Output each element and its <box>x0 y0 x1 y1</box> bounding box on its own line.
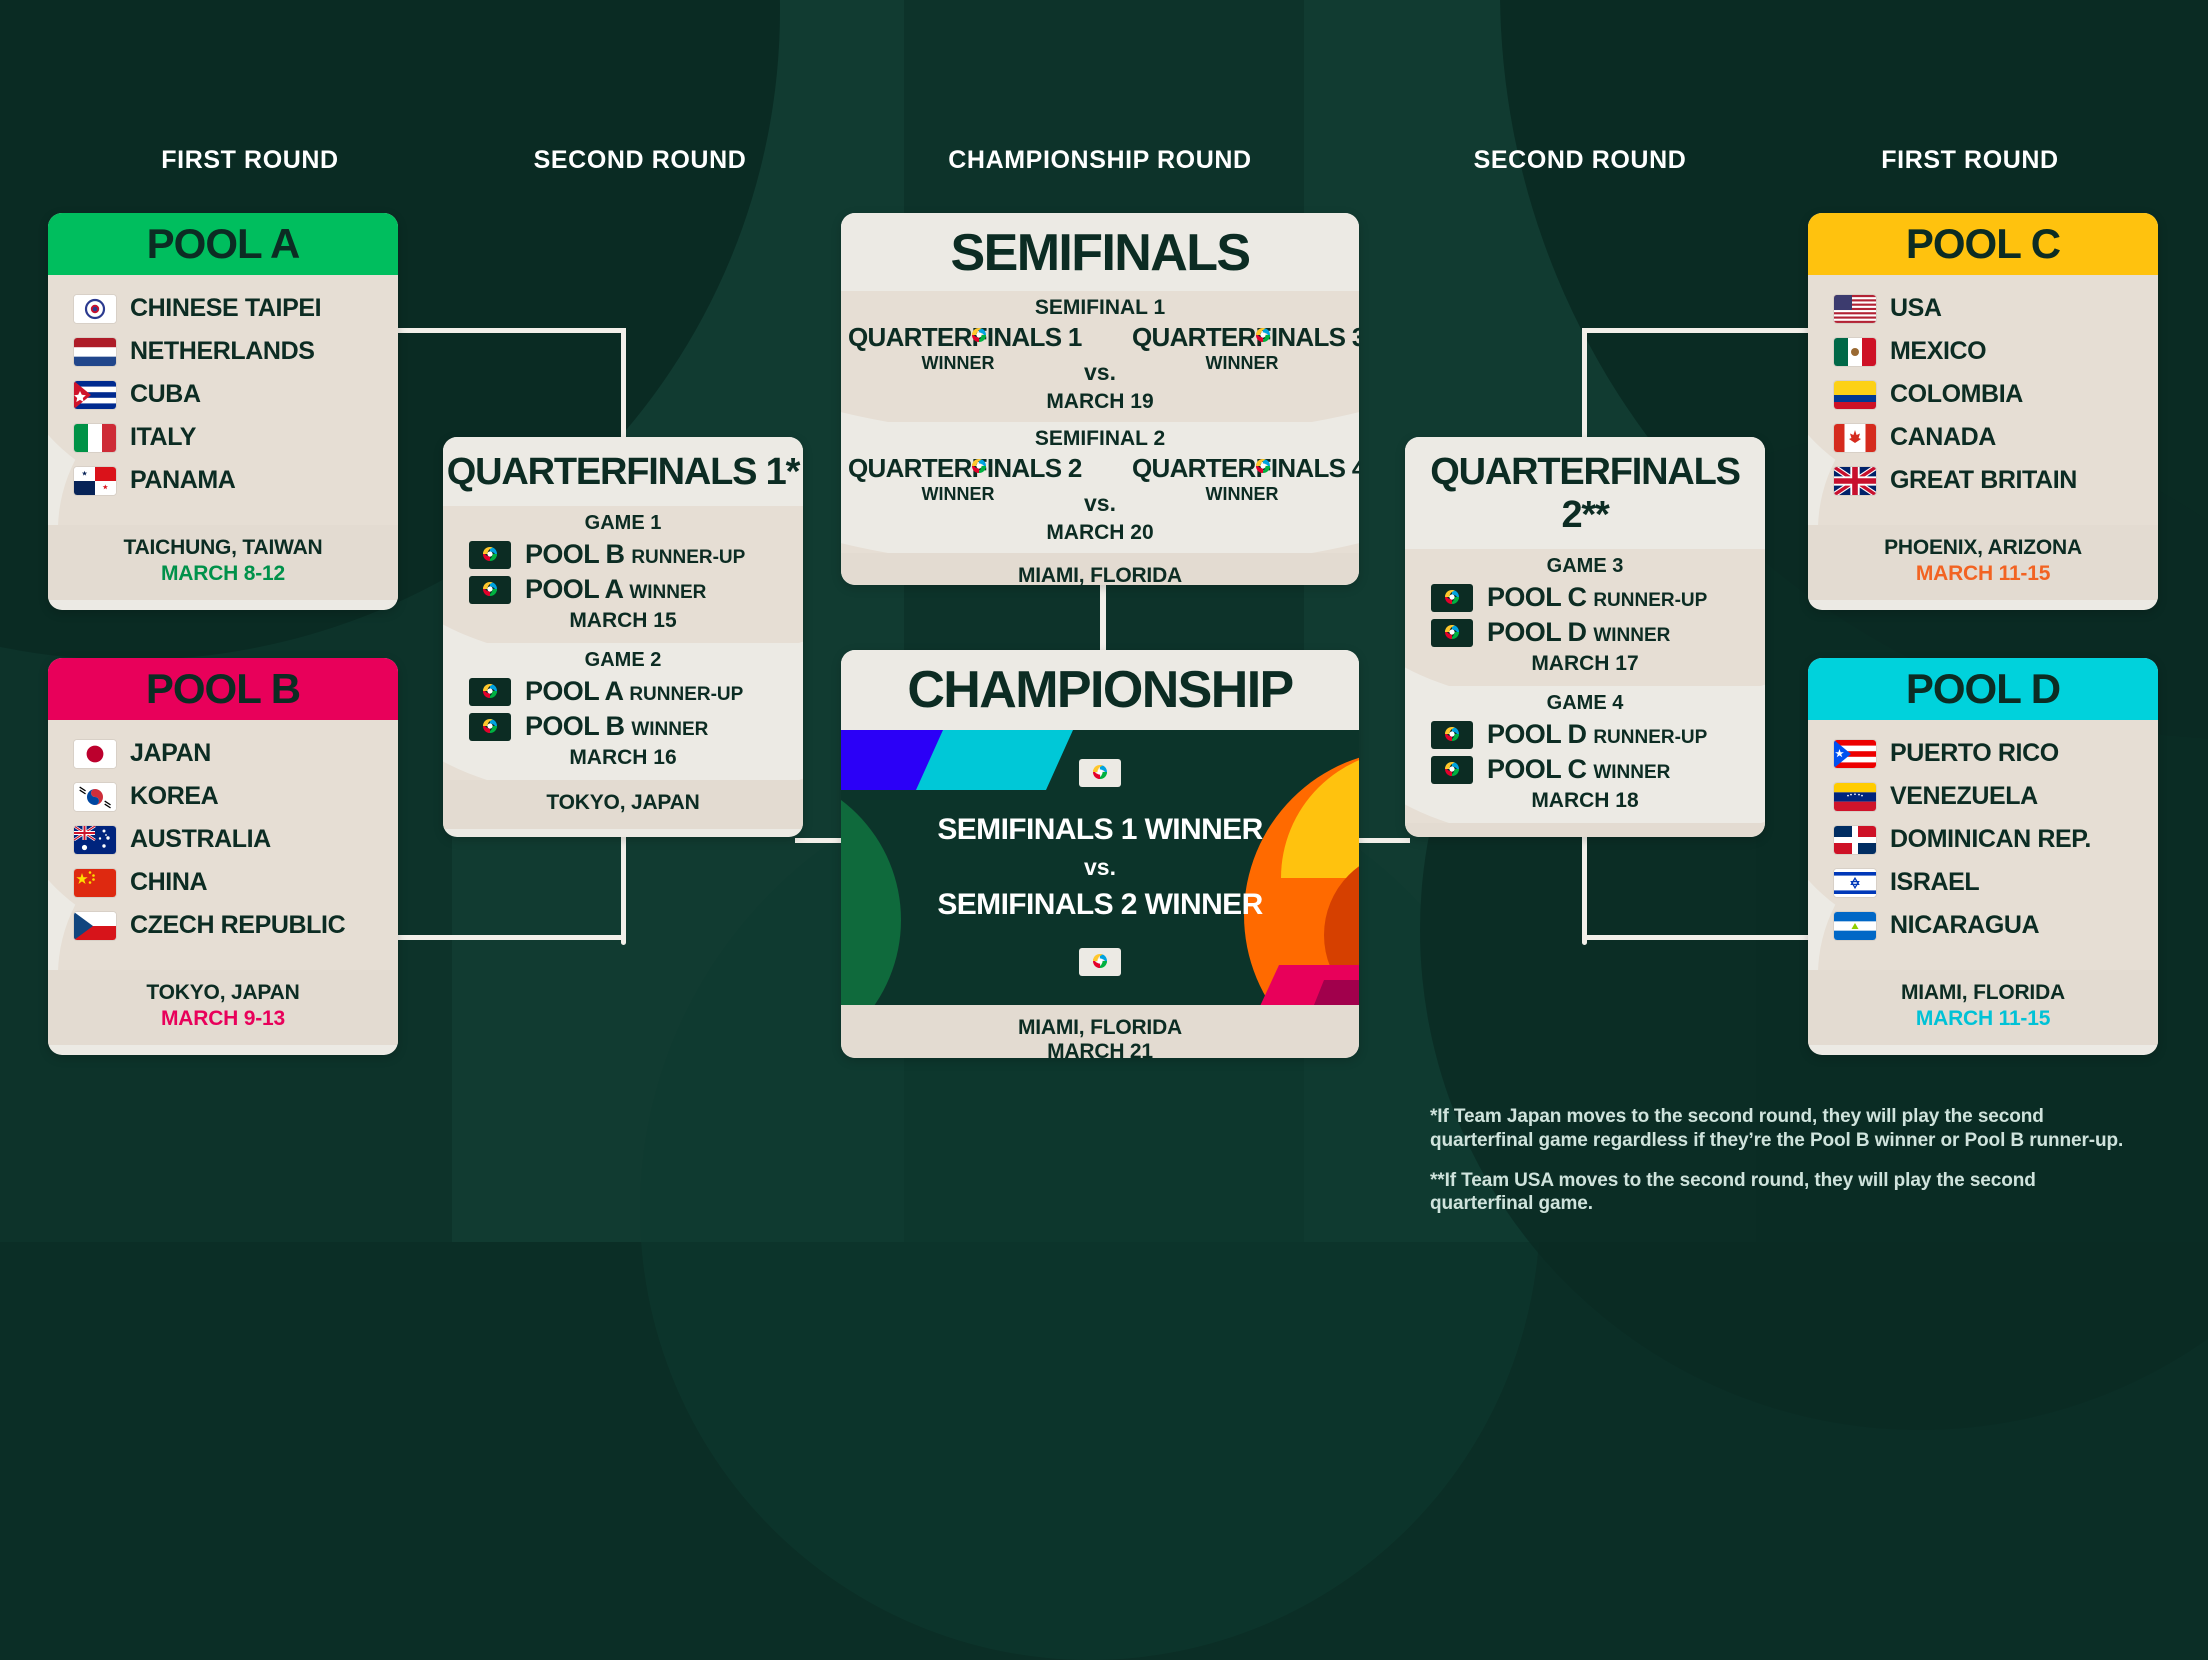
championship-city: MIAMI, FLORIDA <box>847 1016 1353 1040</box>
qf2-game-3[interactable]: GAME 3 POOL C RUNNER-UP POOL D WINNER MA… <box>1405 549 1765 686</box>
qf2-game3-slot-1[interactable]: POOL C RUNNER-UP <box>1405 582 1765 613</box>
pool-b-venue: TOKYO, JAPAN MARCH 9-13 <box>48 970 398 1045</box>
team-row[interactable]: CHINESE TAIPEI <box>48 287 398 330</box>
wbc-logo-icon <box>469 678 511 706</box>
flag-great-britain-icon <box>1834 467 1876 495</box>
qf1-game-2[interactable]: GAME 2 POOL A RUNNER-UP POOL B WINNER MA… <box>443 643 803 780</box>
semifinal-2-right-sub: WINNER <box>1132 484 1352 505</box>
team-row[interactable]: NETHERLANDS <box>48 330 398 373</box>
semifinal-1-date: MARCH 19 <box>841 390 1359 414</box>
match-date: MARCH 15 <box>443 609 803 633</box>
team-name: CANADA <box>1890 423 1996 452</box>
quarterfinals-2-title: QUARTERFINALS 2** <box>1430 451 1740 536</box>
pool-d-venue: MIAMI, FLORIDA MARCH 11-15 <box>1808 970 2158 1045</box>
quarterfinals-1-title-bar: QUARTERFINALS 1* <box>443 437 803 506</box>
pool-d-city: MIAMI, FLORIDA <box>1814 981 2152 1005</box>
semifinals-venue: MIAMI, FLORIDA <box>841 553 1359 585</box>
wbc-logo-icon <box>469 541 511 569</box>
connector-qf2-to-semis <box>1350 838 1410 843</box>
slot-text: POOL B RUNNER-UP <box>525 539 745 570</box>
slot-main: POOL A <box>525 574 622 604</box>
slot-main: POOL D <box>1487 719 1586 749</box>
flag-chinese-taipei-icon <box>74 295 116 323</box>
semifinal-1[interactable]: SEMIFINAL 1 QUARTERFINALS 1 WINNER vs. Q… <box>841 291 1359 422</box>
pool-b-header: POOL B <box>48 658 398 720</box>
team-name: GREAT BRITAIN <box>1890 466 2077 495</box>
slot-main: POOL A <box>525 676 622 706</box>
team-row[interactable]: VENEZUELA <box>1808 775 2158 818</box>
flag-dominican-republic-icon <box>1834 826 1876 854</box>
footnote-1: *If Team Japan moves to the second round… <box>1430 1105 2130 1153</box>
quarterfinals-1-title: QUARTERFINALS 1* <box>447 451 799 493</box>
wbc-logo-icon <box>469 713 511 741</box>
slot-main: POOL B <box>525 711 624 741</box>
semifinal-2-left-name: QUARTERFINALS 2 <box>848 453 1068 484</box>
semifinal-2-grid: QUARTERFINALS 2 WINNER vs. QUARTERFINALS… <box>841 453 1359 517</box>
flag-cuba-icon <box>74 381 116 409</box>
team-row[interactable]: CUBA <box>48 373 398 416</box>
semifinal-2-date: MARCH 20 <box>841 521 1359 545</box>
team-row[interactable]: USA <box>1808 287 2158 330</box>
round-header-label: CHAMPIONSHIP ROUND <box>948 146 1251 174</box>
flag-korea-icon <box>74 783 116 811</box>
team-name: KOREA <box>130 782 218 811</box>
slot-sub: RUNNER-UP <box>631 547 745 568</box>
slot-sub: WINNER <box>631 719 708 740</box>
game-label: GAME 1 <box>443 512 803 535</box>
pool-c-team-list: USA MEXICO COLOMBIA CANADA GREAT BRITAIN <box>1808 275 2158 525</box>
round-header-label: FIRST ROUND <box>1881 146 2058 174</box>
championship-vs: vs. <box>1084 854 1116 881</box>
wbc-logo-icon <box>1079 759 1121 787</box>
semifinal-1-left-sub: WINNER <box>848 353 1068 374</box>
qf1-game-1[interactable]: GAME 1 POOL B RUNNER-UP POOL A WINNER MA… <box>443 506 803 643</box>
pool-a-team-list: CHINESE TAIPEI NETHERLANDS CUBA ITALY PA… <box>48 275 398 525</box>
wbc-logo-icon <box>1431 721 1473 749</box>
slot-sub: RUNNER-UP <box>1593 727 1707 748</box>
quarterfinals-2-venue: MIAMI, FLORIDA <box>1405 823 1765 837</box>
slot-main: POOL C <box>1487 754 1586 784</box>
team-name: CHINA <box>130 868 207 897</box>
qf1-game1-slot-2[interactable]: POOL A WINNER <box>443 574 803 605</box>
pool-d-title: POOL D <box>1906 665 2060 713</box>
team-row[interactable]: NICARAGUA <box>1808 904 2158 947</box>
match-date: MARCH 18 <box>1405 789 1765 813</box>
pool-a-header: POOL A <box>48 213 398 275</box>
pool-c-title: POOL C <box>1906 220 2060 268</box>
championship-matchup: SEMIFINALS 1 WINNER vs. SEMIFINALS 2 WIN… <box>841 730 1359 1005</box>
pool-b-team-list: JAPAN KOREA AUSTRALIA CHINA CZECH REPUBL… <box>48 720 398 970</box>
game-label: GAME 2 <box>443 649 803 672</box>
team-name: AUSTRALIA <box>130 825 271 854</box>
wbc-logo-icon <box>1431 619 1473 647</box>
team-name: CHINESE TAIPEI <box>130 294 321 323</box>
wbc-logo-icon <box>1431 756 1473 784</box>
semifinals-card[interactable]: SEMIFINALS SEMIFINAL 1 QUARTERFINALS 1 W… <box>841 213 1359 585</box>
team-row[interactable]: AUSTRALIA <box>48 818 398 861</box>
quarterfinals-2-city: MIAMI, FLORIDA <box>1411 834 1759 837</box>
round-header-first-left: FIRST ROUND <box>60 146 440 175</box>
flag-puerto-rico-icon <box>1834 740 1876 768</box>
wbc-logo-icon <box>1079 948 1121 976</box>
team-name: NETHERLANDS <box>130 337 315 366</box>
pool-a-date: MARCH 8-12 <box>54 562 392 586</box>
championship-title-bar: CHAMPIONSHIP <box>841 650 1359 730</box>
slot-sub: WINNER <box>1593 762 1670 783</box>
team-row[interactable]: ITALY <box>48 416 398 459</box>
pool-c-city: PHOENIX, ARIZONA <box>1814 536 2152 560</box>
flag-colombia-icon <box>1834 381 1876 409</box>
semifinal-1-right[interactable]: QUARTERFINALS 3 WINNER <box>1132 322 1352 374</box>
semifinal-label: SEMIFINAL 1 <box>841 296 1359 320</box>
team-name: CUBA <box>130 380 201 409</box>
connector-semis-to-championship <box>1100 585 1106 655</box>
semifinal-1-grid: QUARTERFINALS 1 WINNER vs. QUARTERFINALS… <box>841 322 1359 386</box>
team-name: USA <box>1890 294 1942 323</box>
championship-team-2: SEMIFINALS 2 WINNER <box>937 888 1262 922</box>
pool-d-date: MARCH 11-15 <box>1814 1007 2152 1031</box>
qf2-game-4[interactable]: GAME 4 POOL D RUNNER-UP POOL C WINNER MA… <box>1405 686 1765 823</box>
flag-japan-icon <box>74 740 116 768</box>
wbc-logo-icon <box>1431 584 1473 612</box>
round-header-second-right: SECOND ROUND <box>1370 146 1790 175</box>
team-name: PUERTO RICO <box>1890 739 2059 768</box>
semifinal-1-right-sub: WINNER <box>1132 353 1352 374</box>
pool-b-title: POOL B <box>146 665 300 713</box>
team-row[interactable]: GREAT BRITAIN <box>1808 459 2158 502</box>
slot-sub: RUNNER-UP <box>629 684 743 705</box>
slot-text: POOL C WINNER <box>1487 754 1670 785</box>
championship-decor-left-icon <box>841 730 1091 1005</box>
slot-main: POOL C <box>1487 582 1586 612</box>
team-name: PANAMA <box>130 466 235 495</box>
pool-c-date: MARCH 11-15 <box>1814 562 2152 586</box>
championship-decor-right-icon <box>1109 730 1359 1005</box>
flag-netherlands-icon <box>74 338 116 366</box>
flag-australia-icon <box>74 826 116 854</box>
semifinals-title-bar: SEMIFINALS <box>841 213 1359 291</box>
pool-c-venue: PHOENIX, ARIZONA MARCH 11-15 <box>1808 525 2158 600</box>
flag-canada-icon <box>1834 424 1876 452</box>
round-header-first-right: FIRST ROUND <box>1780 146 2160 175</box>
team-row[interactable]: PANAMA <box>48 459 398 502</box>
slot-text: POOL D RUNNER-UP <box>1487 719 1707 750</box>
slot-sub: RUNNER-UP <box>1593 590 1707 611</box>
round-header-championship: CHAMPIONSHIP ROUND <box>855 146 1345 175</box>
championship-date: MARCH 21 <box>847 1040 1353 1058</box>
slot-sub: WINNER <box>1593 625 1670 646</box>
team-row[interactable]: MEXICO <box>1808 330 2158 373</box>
semifinal-2-right[interactable]: QUARTERFINALS 4 WINNER <box>1132 453 1352 505</box>
slot-text: POOL B WINNER <box>525 711 708 742</box>
quarterfinals-2-card[interactable]: QUARTERFINALS 2** GAME 3 POOL C RUNNER-U… <box>1405 437 1765 837</box>
semifinal-label: SEMIFINAL 2 <box>841 427 1359 451</box>
semifinal-2-left[interactable]: QUARTERFINALS 2 WINNER <box>848 453 1068 505</box>
qf2-game3-slot-2[interactable]: POOL D WINNER <box>1405 617 1765 648</box>
pool-a-card[interactable]: POOL A CHINESE TAIPEI NETHERLANDS CUBA I… <box>48 213 398 610</box>
quarterfinals-1-venue: TOKYO, JAPAN <box>443 780 803 829</box>
round-header-label: SECOND ROUND <box>534 146 747 174</box>
team-name: MEXICO <box>1890 337 1986 366</box>
pool-a-title: POOL A <box>147 220 300 268</box>
team-row[interactable]: PUERTO RICO <box>1808 732 2158 775</box>
semifinal-1-right-name: QUARTERFINALS 3 <box>1132 322 1352 353</box>
quarterfinals-1-card[interactable]: QUARTERFINALS 1* GAME 1 POOL B RUNNER-UP… <box>443 437 803 837</box>
game-label: GAME 4 <box>1405 692 1765 715</box>
flag-panama-icon <box>74 467 116 495</box>
team-row[interactable]: ISRAEL <box>1808 861 2158 904</box>
pool-c-card[interactable]: POOL C USA MEXICO COLOMBIA CANADA <box>1808 213 2158 610</box>
team-name: NICARAGUA <box>1890 911 2039 940</box>
pool-d-team-list: PUERTO RICO VENEZUELA DOMINICAN REP. ISR… <box>1808 720 2158 970</box>
team-row[interactable]: KOREA <box>48 775 398 818</box>
semifinal-2-right-name: QUARTERFINALS 4 <box>1132 453 1352 484</box>
championship-venue: MIAMI, FLORIDA MARCH 21 <box>841 1005 1359 1058</box>
championship-card[interactable]: CHAMPIONSHIP SEMIFINALS 1 WINNER vs. SEM… <box>841 650 1359 1058</box>
slot-text: POOL D WINNER <box>1487 617 1670 648</box>
pool-a-city: TAICHUNG, TAIWAN <box>54 536 392 560</box>
flag-china-icon <box>74 869 116 897</box>
team-name: VENEZUELA <box>1890 782 2038 811</box>
flag-venezuela-icon <box>1834 783 1876 811</box>
pool-b-date: MARCH 9-13 <box>54 1007 392 1031</box>
qf2-game4-slot-1[interactable]: POOL D RUNNER-UP <box>1405 719 1765 750</box>
semifinal-1-left-name: QUARTERFINALS 1 <box>848 322 1068 353</box>
pool-b-card[interactable]: POOL B JAPAN KOREA AUSTRALIA CHINA <box>48 658 398 1055</box>
semifinal-2-vs: vs. <box>1084 453 1116 517</box>
slot-main: POOL D <box>1487 617 1586 647</box>
pool-a-venue: TAICHUNG, TAIWAN MARCH 8-12 <box>48 525 398 600</box>
round-header-label: FIRST ROUND <box>161 146 338 174</box>
semifinals-title: SEMIFINALS <box>951 224 1250 282</box>
qf1-game2-slot-2[interactable]: POOL B WINNER <box>443 711 803 742</box>
qf1-game2-slot-1[interactable]: POOL A RUNNER-UP <box>443 676 803 707</box>
slot-text: POOL C RUNNER-UP <box>1487 582 1707 613</box>
flag-usa-icon <box>1834 295 1876 323</box>
flag-italy-icon <box>74 424 116 452</box>
pool-d-header: POOL D <box>1808 658 2158 720</box>
round-header-second-left: SECOND ROUND <box>430 146 850 175</box>
slot-text: POOL A RUNNER-UP <box>525 676 743 707</box>
slot-text: POOL A WINNER <box>525 574 706 605</box>
team-name: JAPAN <box>130 739 211 768</box>
semifinal-1-vs: vs. <box>1084 322 1116 386</box>
wbc-logo-icon <box>469 576 511 604</box>
pool-b-city: TOKYO, JAPAN <box>54 981 392 1005</box>
team-row[interactable]: COLOMBIA <box>1808 373 2158 416</box>
semifinal-2[interactable]: SEMIFINAL 2 QUARTERFINALS 2 WINNER vs. Q… <box>841 422 1359 553</box>
qf2-game4-slot-2[interactable]: POOL C WINNER <box>1405 754 1765 785</box>
match-date: MARCH 17 <box>1405 652 1765 676</box>
team-name: DOMINICAN REP. <box>1890 825 2091 854</box>
round-header-label: SECOND ROUND <box>1474 146 1687 174</box>
flag-mexico-icon <box>1834 338 1876 366</box>
footnotes: *If Team Japan moves to the second round… <box>1430 1105 2130 1232</box>
team-name: ISRAEL <box>1890 868 1979 897</box>
team-row[interactable]: CZECH REPUBLIC <box>48 904 398 947</box>
championship-team-1: SEMIFINALS 1 WINNER <box>937 813 1262 847</box>
footnote-2: **If Team USA moves to the second round,… <box>1430 1169 2130 1217</box>
slot-sub: WINNER <box>629 582 706 603</box>
team-row[interactable]: CANADA <box>1808 416 2158 459</box>
team-name: ITALY <box>130 423 196 452</box>
match-date: MARCH 16 <box>443 746 803 770</box>
slot-main: POOL B <box>525 539 624 569</box>
qf1-game1-slot-1[interactable]: POOL B RUNNER-UP <box>443 539 803 570</box>
team-row[interactable]: CHINA <box>48 861 398 904</box>
flag-israel-icon <box>1834 869 1876 897</box>
championship-title: CHAMPIONSHIP <box>907 661 1292 719</box>
quarterfinals-2-title-bar: QUARTERFINALS 2** <box>1405 437 1765 549</box>
team-row[interactable]: JAPAN <box>48 732 398 775</box>
pool-c-header: POOL C <box>1808 213 2158 275</box>
flag-czech-republic-icon <box>74 912 116 940</box>
semifinal-1-left[interactable]: QUARTERFINALS 1 WINNER <box>848 322 1068 374</box>
quarterfinals-1-city: TOKYO, JAPAN <box>449 791 797 815</box>
team-name: COLOMBIA <box>1890 380 2023 409</box>
team-row[interactable]: DOMINICAN REP. <box>1808 818 2158 861</box>
pool-d-card[interactable]: POOL D PUERTO RICO VENEZUELA DOMINICAN R… <box>1808 658 2158 1055</box>
semifinal-2-left-sub: WINNER <box>848 484 1068 505</box>
semifinals-city: MIAMI, FLORIDA <box>847 564 1353 585</box>
game-label: GAME 3 <box>1405 555 1765 578</box>
flag-nicaragua-icon <box>1834 912 1876 940</box>
team-name: CZECH REPUBLIC <box>130 911 345 940</box>
